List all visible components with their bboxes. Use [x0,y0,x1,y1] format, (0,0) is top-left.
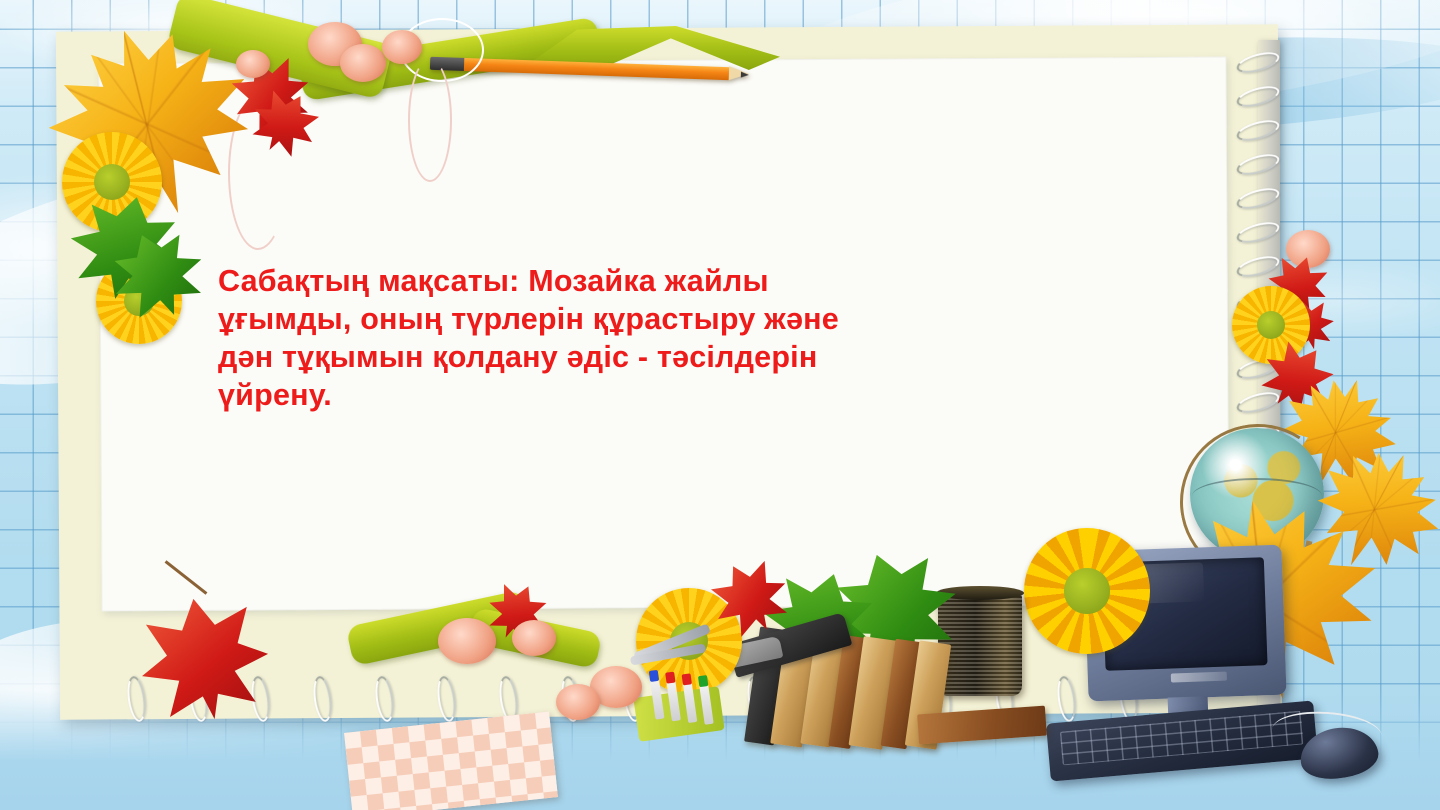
text-line-3: дән тұқымын қолдану әдіс - тәсілдерін [218,338,1178,376]
slide-canvas: Сабақтың мақсаты: Мозайка жайлы ұғымды, … [0,0,1440,810]
text-line-4: үйрену. [218,376,1178,414]
text-line-2: ұғымды, оның түрлерін құрастыру және [218,300,1178,338]
pink-blossom-icon [340,44,386,82]
pink-blossom-icon [1286,230,1330,268]
yellow-daisy-icon [1232,286,1310,364]
pink-blossom-icon [438,618,496,664]
lesson-objective-text: Сабақтың мақсаты: Мозайка жайлы ұғымды, … [218,262,1178,414]
pink-blossom-icon [512,620,556,656]
pink-blossom-icon [556,684,600,720]
sunflower-icon [1024,528,1150,654]
text-line-1: Сабақтың мақсаты: Мозайка жайлы [218,262,1178,300]
pink-blossom-icon [382,30,422,64]
white-string-icon [408,58,452,182]
pencil-cup-icon [938,592,1022,696]
pink-blossom-icon [236,50,270,78]
